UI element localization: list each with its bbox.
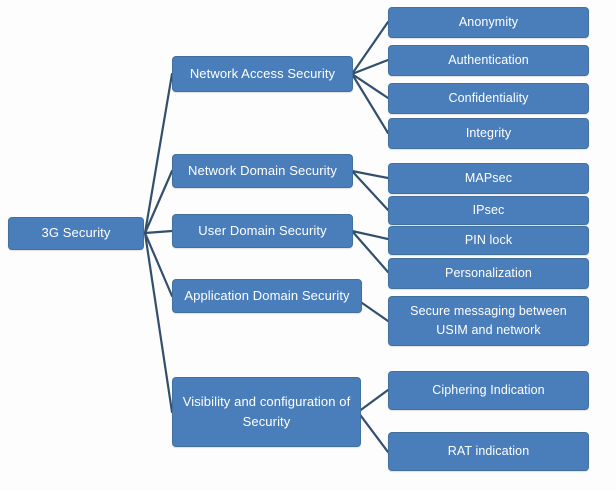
node-label: IPsec bbox=[473, 203, 505, 219]
node-leaf-ipsec[interactable]: IPsec bbox=[388, 196, 589, 225]
connector-root-to-network-access bbox=[145, 74, 172, 233]
connector-network-access-to-integrity bbox=[352, 74, 388, 133]
connector-network-domain-to-mapsec bbox=[352, 171, 388, 178]
connector-user-domain-to-pin-lock bbox=[352, 231, 388, 239]
node-label: Personalization bbox=[445, 266, 532, 282]
diagram-canvas: 3G Security Network Access Security Netw… bbox=[0, 0, 616, 491]
node-label: 3G Security bbox=[41, 225, 110, 241]
node-leaf-pin-lock[interactable]: PIN lock bbox=[388, 226, 589, 255]
node-label: MAPsec bbox=[465, 171, 512, 187]
node-label: Authentication bbox=[448, 53, 529, 69]
node-leaf-secure-messaging-between-usim-and-network[interactable]: Secure messaging between USIM and networ… bbox=[388, 296, 589, 346]
node-leaf-mapsec[interactable]: MAPsec bbox=[388, 163, 589, 194]
node-leaf-integrity[interactable]: Integrity bbox=[388, 118, 589, 149]
node-label: Ciphering Indication bbox=[432, 383, 545, 399]
node-label: PIN lock bbox=[465, 233, 512, 249]
connector-root-to-application-domain bbox=[145, 233, 172, 296]
node-label: Secure messaging between USIM and networ… bbox=[395, 302, 582, 341]
node-label: RAT indication bbox=[448, 444, 530, 460]
node-label: Network Domain Security bbox=[188, 163, 337, 179]
node-label: Confidentiality bbox=[448, 91, 528, 107]
connector-network-access-to-authentication bbox=[352, 60, 388, 74]
node-label: User Domain Security bbox=[198, 223, 326, 239]
connector-visibility-to-rat bbox=[358, 412, 388, 452]
node-branch-network-domain-security[interactable]: Network Domain Security bbox=[172, 154, 353, 188]
node-label: Anonymity bbox=[459, 15, 518, 31]
node-label: Network Access Security bbox=[190, 66, 335, 82]
node-leaf-ciphering-indication[interactable]: Ciphering Indication bbox=[388, 371, 589, 410]
node-branch-application-domain-security[interactable]: Application Domain Security bbox=[172, 279, 362, 313]
node-branch-user-domain-security[interactable]: User Domain Security bbox=[172, 214, 353, 248]
node-label: Application Domain Security bbox=[184, 288, 349, 304]
node-leaf-authentication[interactable]: Authentication bbox=[388, 45, 589, 76]
node-leaf-rat-indication[interactable]: RAT indication bbox=[388, 432, 589, 471]
connector-visibility-to-ciphering bbox=[358, 390, 388, 412]
node-label: Visibility and configuration of Security bbox=[179, 392, 354, 432]
connector-network-access-to-anonymity bbox=[352, 22, 388, 74]
connector-root-to-network-domain bbox=[145, 171, 172, 233]
node-leaf-anonymity[interactable]: Anonymity bbox=[388, 7, 589, 38]
node-branch-network-access-security[interactable]: Network Access Security bbox=[172, 56, 353, 92]
connector-user-domain-to-personalization bbox=[352, 231, 388, 272]
node-root-3g-security[interactable]: 3G Security bbox=[8, 217, 144, 250]
node-leaf-confidentiality[interactable]: Confidentiality bbox=[388, 83, 589, 114]
connector-network-access-to-confidentiality bbox=[352, 74, 388, 98]
node-label: Integrity bbox=[466, 126, 511, 142]
connector-root-to-user-domain bbox=[145, 231, 172, 233]
node-leaf-personalization[interactable]: Personalization bbox=[388, 258, 589, 289]
connector-root-to-visibility bbox=[145, 233, 172, 412]
connector-network-domain-to-ipsec bbox=[352, 171, 388, 210]
node-branch-visibility-and-configuration-of-security[interactable]: Visibility and configuration of Security bbox=[172, 377, 361, 447]
